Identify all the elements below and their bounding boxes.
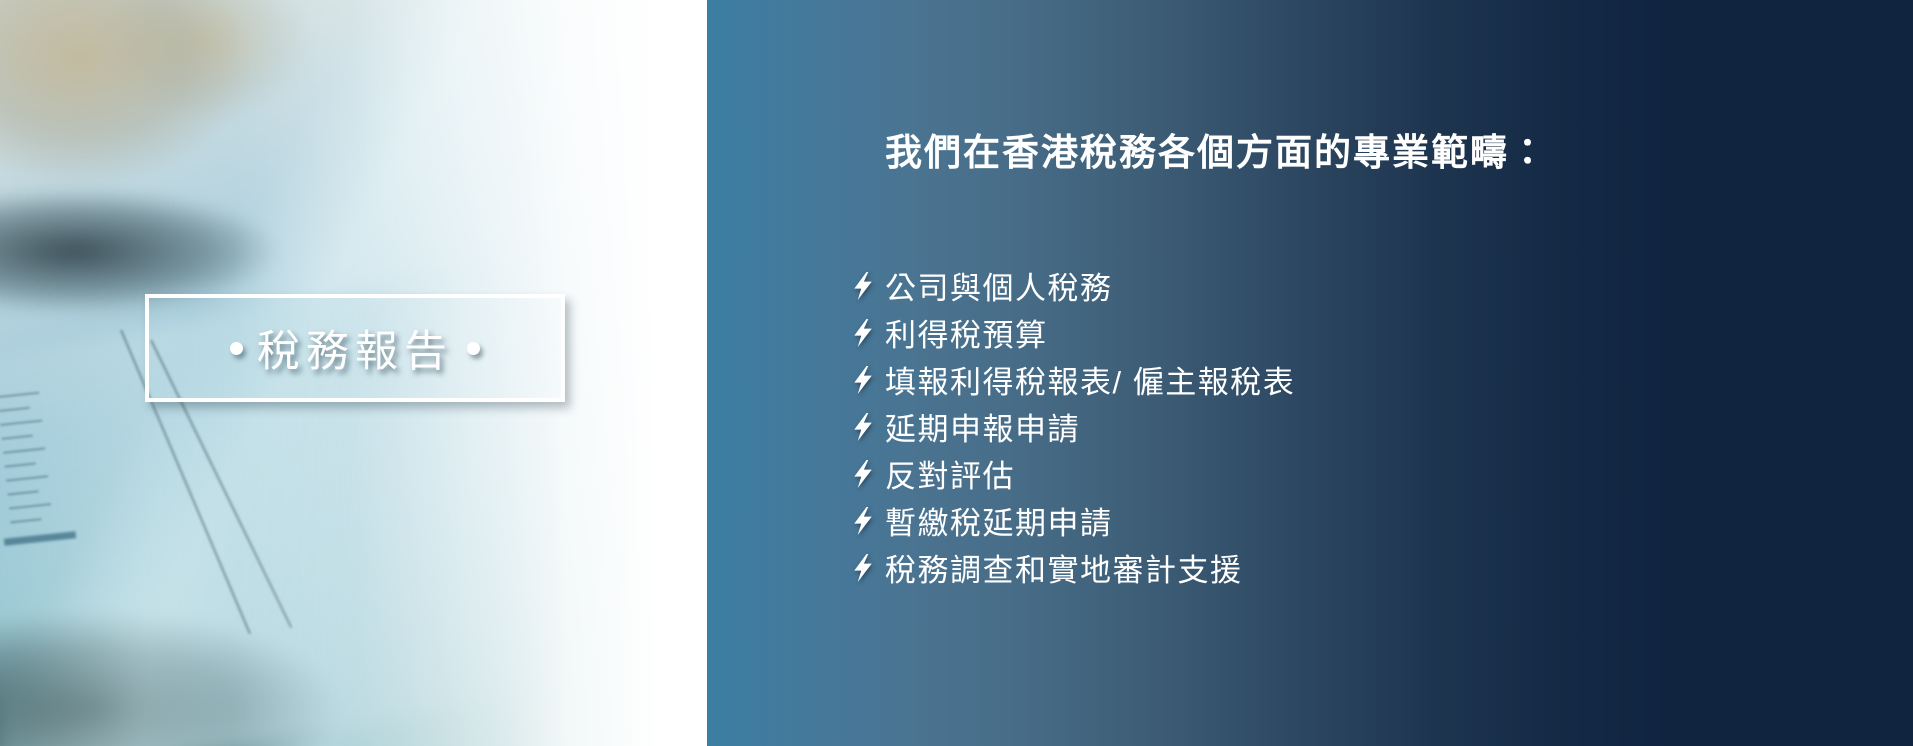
left-image-panel: 稅務報告 [0,0,707,746]
list-item-label: 反對評估 [885,451,1015,496]
list-item: 反對評估 [852,450,1295,497]
list-item-label: 暫繳稅延期申請 [885,498,1113,543]
lightning-bolt-icon [852,366,874,394]
list-item-label: 利得稅預算 [885,310,1048,355]
section-title-box: 稅務報告 [145,294,565,402]
bullet-dot-icon [467,342,480,355]
lightning-bolt-icon [852,272,874,300]
page-title: 稅務報告 [257,317,453,379]
lightning-bolt-icon [852,460,874,488]
list-item: 利得稅預算 [852,309,1295,356]
right-content-panel: 我們在香港稅務各個方面的專業範疇： 公司與個人稅務 利得稅預算 [707,0,1913,746]
list-item: 延期申報申請 [852,403,1295,450]
list-item: 稅務調查和實地審計支援 [852,544,1295,591]
lightning-bolt-icon [852,413,874,441]
list-item: 填報利得稅報表/ 僱主報稅表 [852,356,1295,403]
bullet-dot-icon [230,342,243,355]
lightning-bolt-icon [852,554,874,582]
list-item-label: 稅務調查和實地審計支援 [885,545,1243,590]
list-item: 公司與個人稅務 [852,262,1295,309]
list-item-label: 延期申報申請 [885,404,1080,449]
lightning-bolt-icon [852,507,874,535]
lightning-bolt-icon [852,319,874,347]
services-heading: 我們在香港稅務各個方面的專業範疇： [885,122,1548,176]
list-item-label: 公司與個人稅務 [885,263,1113,308]
list-item: 暫繳稅延期申請 [852,497,1295,544]
services-list: 公司與個人稅務 利得稅預算 填報利得稅報表/ 僱主報稅表 [852,262,1295,591]
tax-services-banner: 稅務報告 我們在香港稅務各個方面的專業範疇： 公司與個人稅務 利得稅預算 [0,0,1913,746]
list-item-label: 填報利得稅報表/ 僱主報稅表 [885,357,1295,402]
